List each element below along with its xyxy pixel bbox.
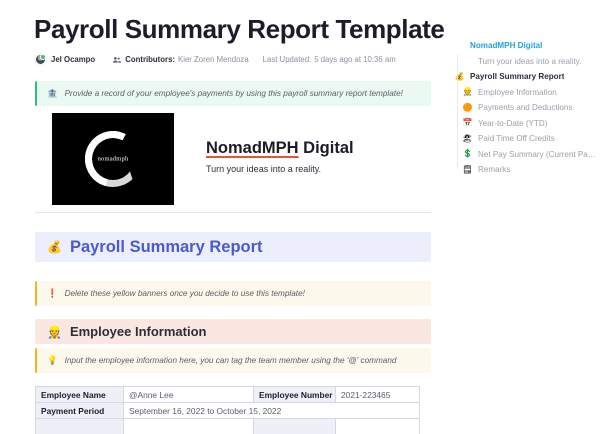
cell-payment-period-value[interactable]: September 16, 2022 to October 15, 2022 bbox=[124, 403, 420, 419]
cell-empty-label bbox=[36, 419, 124, 434]
outline-item-label: Paid Time Off Credits bbox=[478, 134, 555, 143]
outline-list: NomadMPH DigitalTurn your ideas into a r… bbox=[453, 38, 596, 178]
outline-indent-rail bbox=[457, 54, 458, 168]
employee-information-table: Employee Name @Anne Lee Employee Number … bbox=[35, 386, 420, 434]
document-meta: Jel Ocampo Contributors: Kier Zoren Mend… bbox=[35, 54, 396, 65]
outline-item[interactable]: 🟠Payments and Deductions bbox=[453, 100, 596, 116]
outline-item-label: Turn your ideas into a reality. bbox=[478, 57, 581, 66]
page-title: Payroll Summary Report Template bbox=[34, 14, 444, 45]
dollar-icon: 💲 bbox=[461, 150, 474, 158]
brand-text-block: NomadMPH Digital Turn your ideas into a … bbox=[206, 113, 354, 174]
lightbulb-icon: 💡 bbox=[47, 356, 58, 365]
outline-item[interactable]: 💲Net Pay Summary (Current Pay Pe... bbox=[453, 147, 596, 163]
cell-empty-label-2 bbox=[254, 419, 336, 434]
brand-name-accent: NomadMPH bbox=[206, 139, 299, 157]
cell-employee-name-label: Employee Name bbox=[36, 387, 124, 403]
outline-item[interactable]: 🗒Remarks bbox=[453, 162, 596, 178]
outline-item-label: Remarks bbox=[478, 165, 510, 174]
cell-payment-period-label: Payment Period bbox=[36, 403, 124, 419]
callout-green: 🏦 Provide a record of your employee's pa… bbox=[35, 81, 431, 106]
table-row: Payment Period September 16, 2022 to Oct… bbox=[36, 403, 420, 419]
cell-employee-number-value[interactable]: 2021-223465 bbox=[336, 387, 420, 403]
outline-item[interactable]: NomadMPH Digital bbox=[453, 38, 596, 54]
money-bag-icon: 💰 bbox=[453, 73, 466, 81]
section-heading-payroll-text: Payroll Summary Report bbox=[70, 238, 263, 257]
brand-name-rest: Digital bbox=[299, 139, 354, 157]
callout-input-hint-text: Input the employee information here, you… bbox=[65, 356, 397, 365]
contributors-label: Contributors: bbox=[125, 55, 175, 64]
contributors-value[interactable]: Kier Zoren Mendoza bbox=[178, 55, 249, 64]
section-heading-employee: 👷 Employee Information bbox=[35, 319, 431, 344]
bank-icon: 🏦 bbox=[47, 89, 58, 98]
coin-icon: 🟠 bbox=[461, 104, 474, 112]
avatar-icon[interactable] bbox=[35, 54, 46, 65]
note-icon: 🗒 bbox=[461, 166, 474, 174]
money-bag-icon: 💰 bbox=[47, 241, 62, 253]
outline-item-label: Payments and Deductions bbox=[478, 103, 572, 112]
calendar-icon: 📅 bbox=[461, 119, 474, 127]
brand-logo-image: nomadmph bbox=[52, 113, 174, 205]
office-worker-icon: 👷 bbox=[47, 326, 62, 338]
brand-tagline: Turn your ideas into a reality. bbox=[206, 164, 354, 174]
outline-item[interactable]: Turn your ideas into a reality. bbox=[453, 54, 596, 70]
outline-item[interactable]: 🏖Paid Time Off Credits bbox=[453, 131, 596, 147]
cell-employee-name-value[interactable]: @Anne Lee bbox=[124, 387, 254, 403]
outline-item[interactable]: 👷Employee Information bbox=[453, 85, 596, 101]
last-updated-label: Last Updated: bbox=[263, 55, 312, 64]
outline-item[interactable]: 📅Year-to-Date (YTD) bbox=[453, 116, 596, 132]
outline-item-label: Net Pay Summary (Current Pay Pe... bbox=[478, 150, 596, 159]
contributors-icon bbox=[111, 54, 122, 65]
brand-block: nomadmph NomadMPH Digital Turn your idea… bbox=[52, 113, 354, 205]
office-worker-icon: 👷 bbox=[461, 88, 474, 96]
cell-empty-value-2[interactable] bbox=[336, 419, 420, 434]
last-updated-value[interactable]: 5 days ago at 10:36 am bbox=[314, 55, 396, 64]
cell-employee-number-label: Employee Number bbox=[254, 387, 336, 403]
callout-delete-banner: ❗ Delete these yellow banners once you d… bbox=[35, 281, 431, 306]
beach-icon: 🏖 bbox=[461, 135, 474, 143]
outline-item-label: Year-to-Date (YTD) bbox=[478, 119, 547, 128]
page-root: Payroll Summary Report Template Jel Ocam… bbox=[0, 0, 600, 434]
outline-item[interactable]: 💰Payroll Summary Report bbox=[453, 69, 596, 85]
cell-empty-value-1[interactable] bbox=[124, 419, 254, 434]
outline-item-label: Employee Information bbox=[478, 88, 557, 97]
callout-green-text: Provide a record of your employee's paym… bbox=[65, 89, 403, 98]
outline-panel: NomadMPH DigitalTurn your ideas into a r… bbox=[448, 0, 600, 434]
logo-wordmark: nomadmph bbox=[52, 156, 174, 163]
table-row bbox=[36, 419, 420, 434]
outline-item-label: NomadMPH Digital bbox=[470, 41, 542, 50]
meta-author-name[interactable]: Jel Ocampo bbox=[51, 55, 95, 64]
section-heading-employee-text: Employee Information bbox=[70, 324, 207, 339]
brand-name: NomadMPH Digital bbox=[206, 139, 354, 158]
document-body: Payroll Summary Report Template Jel Ocam… bbox=[0, 0, 448, 434]
outline-item-label: Payroll Summary Report bbox=[470, 72, 564, 81]
exclamation-icon: ❗ bbox=[47, 289, 58, 298]
table-row: Employee Name @Anne Lee Employee Number … bbox=[36, 387, 420, 403]
callout-delete-banner-text: Delete these yellow banners once you dec… bbox=[65, 289, 305, 298]
callout-input-hint: 💡 Input the employee information here, y… bbox=[35, 348, 431, 373]
section-divider bbox=[35, 212, 431, 213]
section-heading-payroll: 💰 Payroll Summary Report bbox=[35, 232, 431, 262]
